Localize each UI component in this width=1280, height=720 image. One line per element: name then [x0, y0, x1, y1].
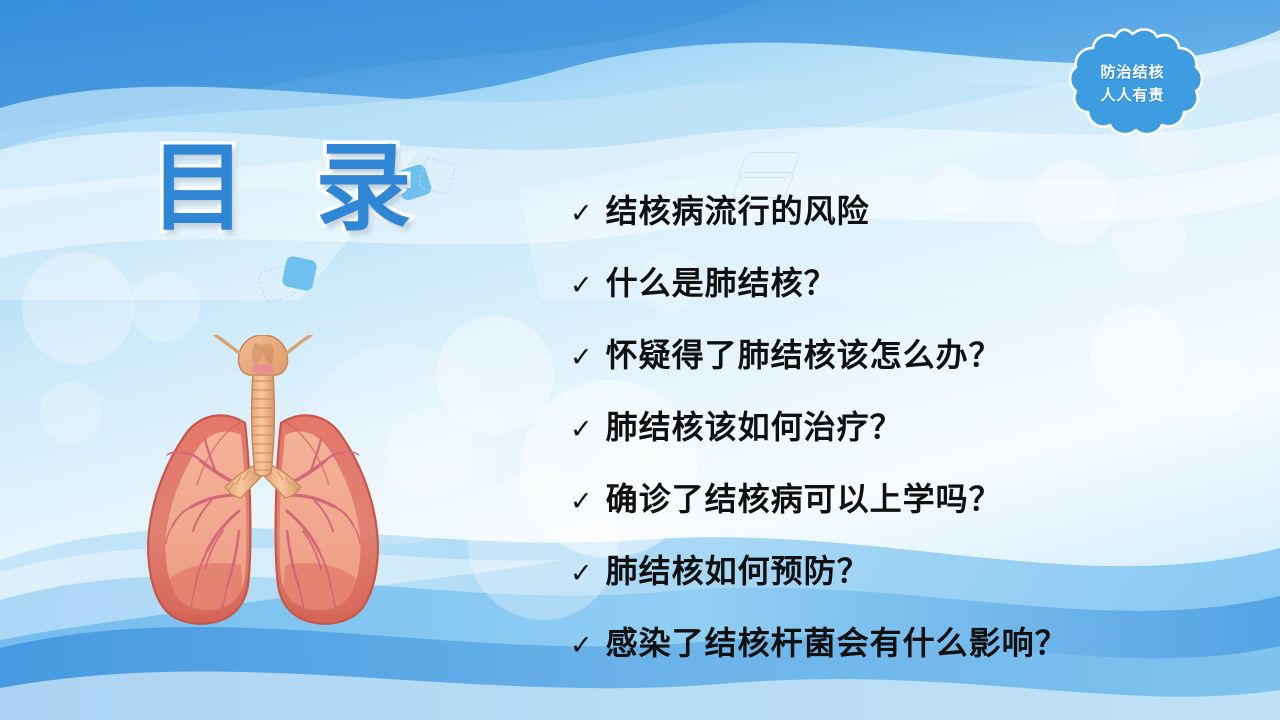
check-icon: ✓	[570, 560, 593, 587]
list-item[interactable]: ✓ 确诊了结核病可以上学吗？	[570, 474, 1190, 520]
list-item-label: 肺结核该如何治疗？	[606, 402, 903, 448]
decorative-square-outline	[257, 264, 297, 304]
list-item-label: 结核病流行的风险	[606, 186, 870, 232]
check-icon: ✓	[570, 344, 593, 371]
list-item[interactable]: ✓ 感染了结核杆菌会有什么影响？	[570, 618, 1190, 664]
check-icon: ✓	[570, 272, 593, 299]
list-item[interactable]: ✓ 肺结核该如何治疗？	[570, 402, 1190, 448]
decorative-rhombus	[737, 152, 802, 178]
slide-canvas: 目 录 防治结核 人人有责	[0, 0, 1280, 720]
badge-line-1: 防治结核	[1100, 61, 1164, 84]
badge-line-2: 人人有责	[1100, 84, 1164, 107]
decorative-square-filled	[281, 255, 318, 292]
list-item[interactable]: ✓ 肺结核如何预防？	[570, 546, 1190, 592]
list-item-label: 什么是肺结核？	[606, 258, 837, 304]
list-item[interactable]: ✓ 怀疑得了肺结核该怎么办？	[570, 330, 1190, 376]
list-item-label: 感染了结核杆菌会有什么影响？	[606, 618, 1068, 664]
table-of-contents: ✓ 结核病流行的风险 ✓ 什么是肺结核？ ✓ 怀疑得了肺结核该怎么办？ ✓ 肺结…	[570, 186, 1190, 690]
human-lungs-icon	[103, 335, 423, 645]
check-icon: ✓	[570, 416, 593, 443]
check-icon: ✓	[570, 200, 593, 227]
list-item-label: 怀疑得了肺结核该怎么办？	[606, 330, 1002, 376]
page-title-text: 目 录	[150, 140, 429, 236]
check-icon: ✓	[570, 488, 593, 515]
list-item-label: 确诊了结核病可以上学吗？	[606, 474, 1002, 520]
list-item[interactable]: ✓ 什么是肺结核？	[570, 258, 1190, 304]
status-badge: 防治结核 人人有责	[1060, 28, 1205, 140]
check-icon: ✓	[570, 632, 593, 659]
list-item[interactable]: ✓ 结核病流行的风险	[570, 186, 1190, 232]
page-title: 目 录	[150, 140, 429, 236]
list-item-label: 肺结核如何预防？	[606, 546, 870, 592]
lungs-illustration	[103, 335, 423, 645]
